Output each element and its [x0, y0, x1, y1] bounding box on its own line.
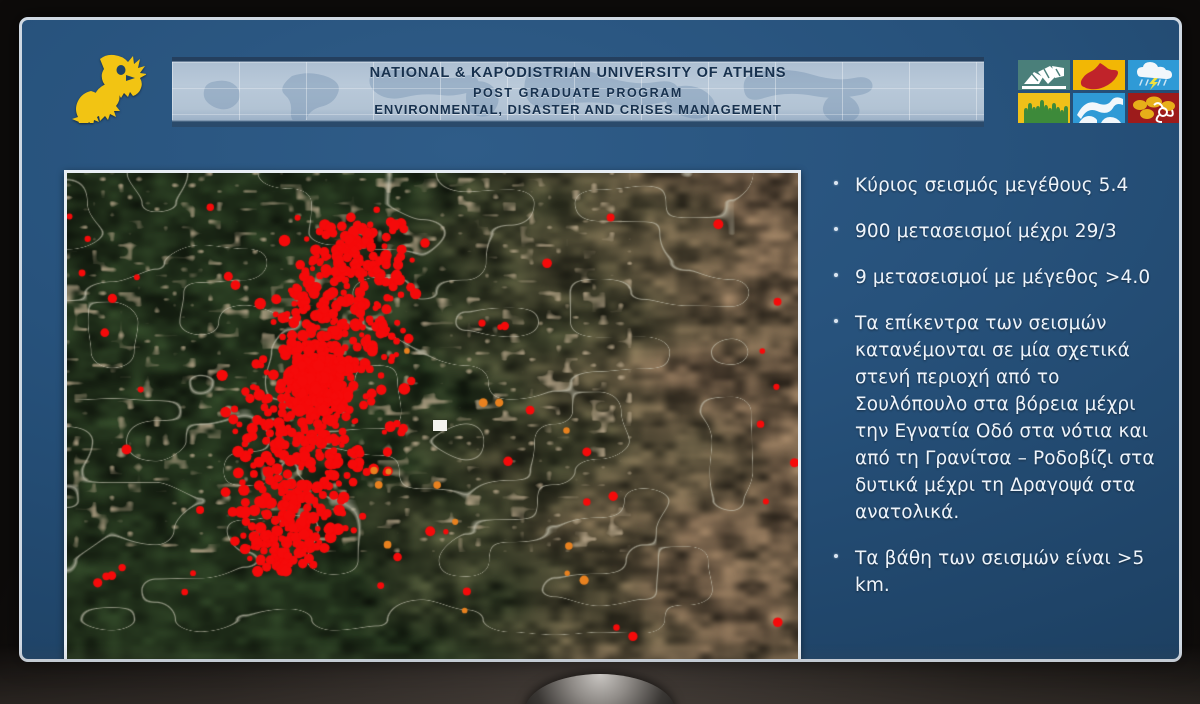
- projector-screen: NATIONAL & KAPODISTRIAN UNIVERSITY OF AT…: [0, 0, 1200, 704]
- presentation-slide: NATIONAL & KAPODISTRIAN UNIVERSITY OF AT…: [19, 17, 1182, 662]
- list-item: Τα επίκεντρα των σεισμών κατανέμονται σε…: [822, 310, 1162, 526]
- list-item: 9 μετασεισμοί με μέγεθος >4.0: [822, 264, 1162, 291]
- storm-cloud-icon: [1128, 60, 1180, 90]
- list-item: 900 μετασεισμοί μέχρι 29/3: [822, 218, 1162, 245]
- bullet-text: 9 μετασεισμοί με μέγεθος >4.0: [855, 264, 1150, 291]
- raised-hands-icon: [1018, 93, 1070, 123]
- earthquake-epicenter-satellite-map[interactable]: [67, 173, 798, 662]
- banner-line-2: POST GRADUATE PROGRAM: [473, 86, 683, 100]
- bullet-text: Τα επίκεντρα των σεισμών κατανέμονται σε…: [855, 310, 1162, 526]
- bullet-list: Κύριος σεισμός μεγέθους 5.4 900 μετασεισ…: [822, 172, 1162, 618]
- flame-icon: [1073, 60, 1125, 90]
- bullet-dot-icon: [822, 218, 855, 245]
- bullet-text: 900 μετασεισμοί μέχρι 29/3: [855, 218, 1117, 245]
- collapsed-building-icon: [1018, 60, 1070, 90]
- disaster-icon-grid: [1018, 60, 1180, 123]
- biohazard-icon: [1128, 93, 1180, 123]
- banner-line-3: ENVIRONMENTAL, DISASTER AND CRISES MANAG…: [374, 102, 781, 117]
- bullet-dot-icon: [822, 545, 855, 599]
- bullet-dot-icon: [822, 310, 855, 526]
- bullet-dot-icon: [822, 264, 855, 291]
- satellite-terrain-canvas: [67, 173, 798, 662]
- slide-header: NATIONAL & KAPODISTRIAN UNIVERSITY OF AT…: [22, 20, 1179, 128]
- bullet-text: Κύριος σεισμός μεγέθους 5.4: [855, 172, 1128, 199]
- list-item: Κύριος σεισμός μεγέθους 5.4: [822, 172, 1162, 199]
- map-location-marker[interactable]: [433, 420, 447, 431]
- list-item: Τα βάθη των σεισμών είναι >5 km.: [822, 545, 1162, 599]
- map-frame: [64, 170, 801, 662]
- athena-owl-emblem-icon: [62, 49, 150, 125]
- bullet-dot-icon: [822, 172, 855, 199]
- banner-line-1: NATIONAL & KAPODISTRIAN UNIVERSITY OF AT…: [370, 65, 787, 81]
- flood-wave-icon: [1073, 93, 1125, 123]
- banner-text-block: NATIONAL & KAPODISTRIAN UNIVERSITY OF AT…: [172, 62, 984, 120]
- university-title-banner: NATIONAL & KAPODISTRIAN UNIVERSITY OF AT…: [172, 57, 984, 127]
- bullet-text: Τα βάθη των σεισμών είναι >5 km.: [855, 545, 1162, 599]
